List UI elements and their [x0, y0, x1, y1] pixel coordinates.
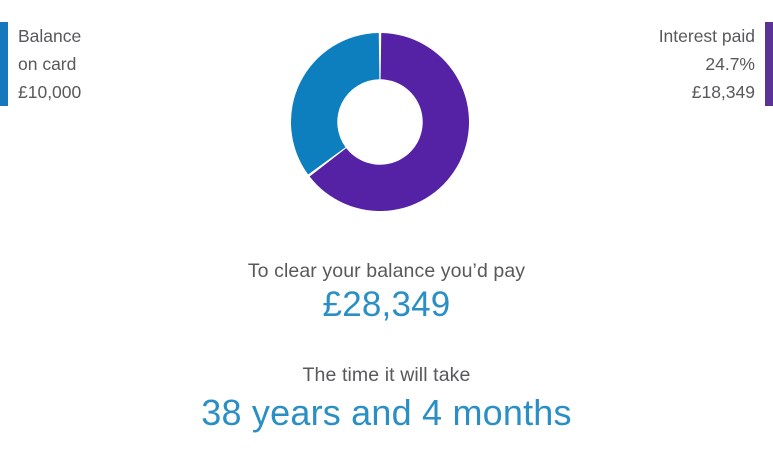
legend-balance-line1: Balance: [18, 22, 81, 50]
donut-slice-balance: [291, 33, 379, 175]
legend-balance-on-card: Balance on card £10,000: [0, 22, 81, 106]
legend-interest-rate: 24.7%: [705, 50, 755, 78]
legend-balance-line2: on card: [18, 50, 76, 78]
summary-total-to-pay: To clear your balance you’d pay £28,349: [0, 258, 773, 324]
term-caption: The time it will take: [0, 362, 773, 388]
legend-balance-text: Balance on card £10,000: [8, 22, 81, 106]
legend-interest-paid: Interest paid 24.7% £18,349: [659, 22, 773, 106]
donut-chart: [291, 33, 469, 211]
donut-chart-svg: [291, 33, 469, 211]
legend-balance-amount: £10,000: [18, 78, 81, 106]
legend-color-swatch-blue: [0, 22, 8, 106]
legend-interest-amount: £18,349: [692, 78, 755, 106]
credit-card-cost-panel: Balance on card £10,000 Interest paid 24…: [0, 0, 773, 457]
legend-interest-text: Interest paid 24.7% £18,349: [659, 22, 765, 106]
legend-color-swatch-purple: [765, 22, 773, 106]
total-caption: To clear your balance you’d pay: [0, 258, 773, 284]
term-value: 38 years and 4 months: [0, 394, 773, 432]
total-value: £28,349: [0, 287, 773, 324]
summary-time-to-clear: The time it will take 38 years and 4 mon…: [0, 362, 773, 432]
legend-interest-line1: Interest paid: [659, 22, 755, 50]
